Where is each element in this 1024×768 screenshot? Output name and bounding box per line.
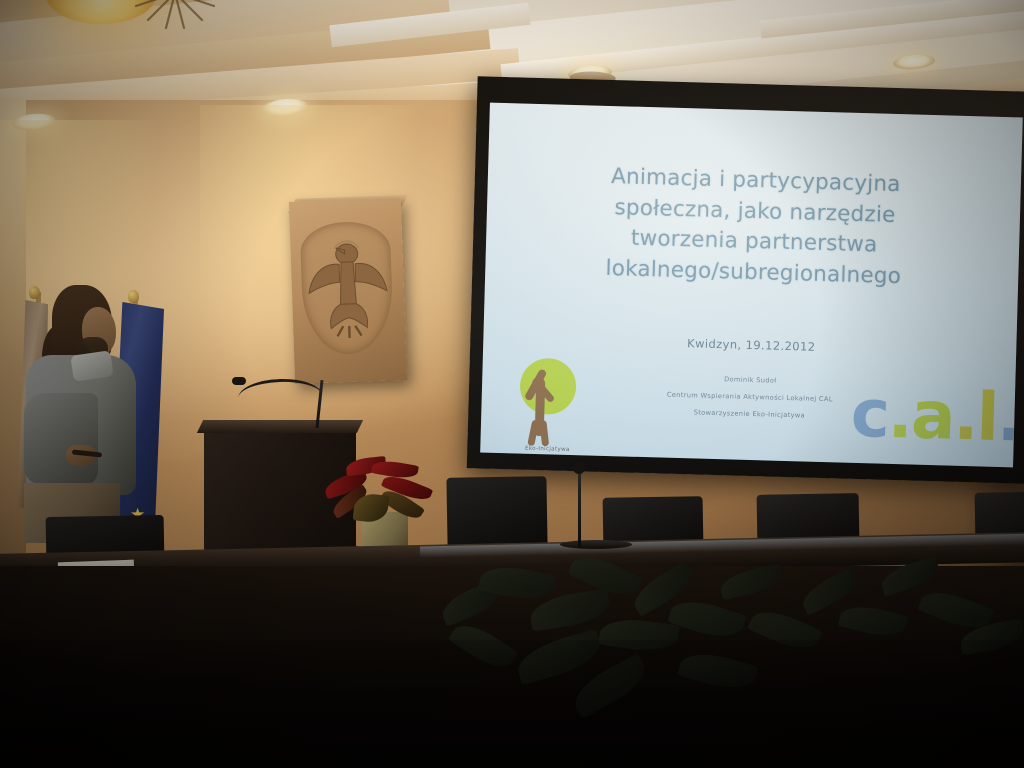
table-microphone-icon bbox=[573, 462, 585, 474]
screen-frame: Animacja i partycypacyjna społeczna, jak… bbox=[467, 76, 1024, 483]
foreground-shadow bbox=[0, 640, 1024, 768]
eko-inicjatywa-logo: Eko-Inicjatywa bbox=[508, 357, 589, 455]
eko-logo-label: Eko-Inicjatywa bbox=[508, 445, 586, 453]
sunburst-ornament-icon bbox=[120, 0, 230, 30]
foliage-leaf bbox=[838, 600, 908, 641]
table-microphone-base bbox=[560, 540, 632, 549]
presentation-slide: Animacja i partycypacyjna społeczna, jak… bbox=[480, 103, 1023, 468]
lectern-top-surface bbox=[197, 420, 363, 433]
cal-dot-1: . bbox=[887, 376, 912, 454]
cal-dot-3: . bbox=[996, 379, 1021, 457]
foliage-leaf bbox=[667, 593, 747, 644]
eko-tree-canopy-icon bbox=[519, 358, 577, 416]
slide-title: Animacja i partycypacyjna społeczna, jak… bbox=[543, 160, 966, 294]
table-microphone-stem bbox=[578, 468, 581, 548]
speaker bbox=[10, 285, 140, 540]
projection-screen: Animacja i partycypacyjna społeczna, jak… bbox=[467, 76, 1024, 491]
photo-scene: ★ ★ Animacja i partycypacyjna społeczna,… bbox=[0, 0, 1024, 768]
eko-figure-leg-2-icon bbox=[539, 420, 549, 447]
cal-logo: c.a.l. bbox=[850, 388, 1021, 446]
cal-letter-a: a bbox=[910, 377, 955, 455]
polish-eagle-plaque bbox=[289, 198, 407, 384]
slide-date: Kwidzyn, 19.12.2012 bbox=[541, 332, 961, 358]
cal-letter-l: l bbox=[976, 379, 999, 457]
cal-dot-2: . bbox=[953, 378, 978, 456]
speaker-arm bbox=[24, 393, 98, 485]
eagle-icon bbox=[304, 233, 392, 344]
chair-2 bbox=[446, 476, 547, 548]
foliage-leaf bbox=[718, 564, 784, 600]
speaker-collar bbox=[70, 350, 113, 381]
cal-letter-c: c bbox=[850, 375, 889, 453]
foliage-leaf bbox=[878, 555, 942, 596]
lectern-microphone-icon bbox=[232, 377, 246, 385]
